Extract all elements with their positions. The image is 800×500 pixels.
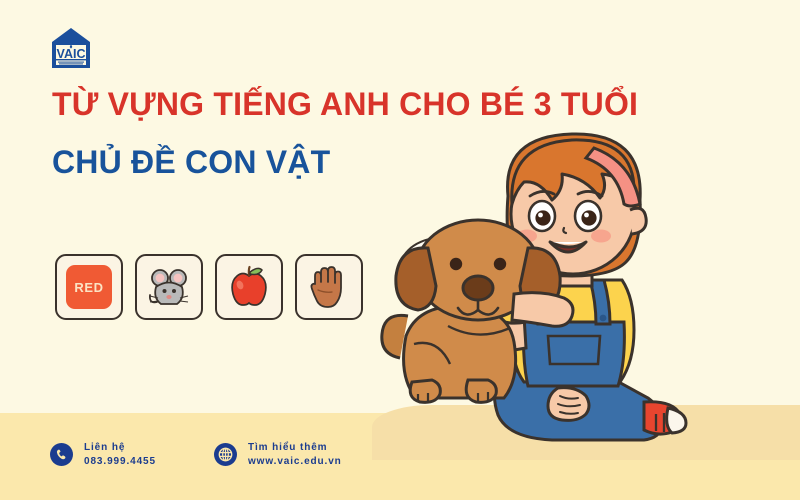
phone-icon <box>50 443 73 466</box>
footer-website-value: www.vaic.edu.vn <box>248 455 342 469</box>
vaic-logo[interactable]: VAIC <box>48 26 94 70</box>
globe-glyph <box>218 447 233 462</box>
illustration-svg <box>372 130 800 460</box>
flashcard-red[interactable]: RED <box>55 254 123 320</box>
flashcard-hand[interactable] <box>295 254 363 320</box>
footer-website[interactable]: Tìm hiểu thêm www.vaic.edu.vn <box>214 441 342 468</box>
footer-contact[interactable]: Liên hệ 083.999.4455 <box>50 441 156 468</box>
globe-icon <box>214 443 237 466</box>
flashcard-mouse[interactable] <box>135 254 203 320</box>
flashcard-apple[interactable] <box>215 254 283 320</box>
flashcard-row: RED <box>55 254 363 320</box>
poster-canvas: VAIC TỪ VỰNG TIẾNG ANH CHO BÉ 3 TUỔI CHỦ… <box>0 0 800 500</box>
flashcard-red-label: RED <box>74 280 103 295</box>
red-color-swatch-icon: RED <box>66 265 112 309</box>
vaic-logo-icon: VAIC <box>48 26 94 70</box>
footer-contact-label: Liên hệ <box>84 441 156 455</box>
footer-website-label: Tìm hiểu thêm <box>248 441 342 455</box>
mouse-icon <box>144 262 194 312</box>
hand-icon <box>306 262 352 312</box>
svg-text:VAIC: VAIC <box>57 47 86 61</box>
apple-icon <box>225 263 273 311</box>
girl-and-dog-illustration <box>372 130 800 460</box>
poster-title-line-1: TỪ VỰNG TIẾNG ANH CHO BÉ 3 TUỔI <box>52 86 638 123</box>
footer-contact-value: 083.999.4455 <box>84 455 156 469</box>
petting-hand <box>512 293 573 327</box>
phone-glyph <box>55 448 68 461</box>
footer-contact-bar: Liên hệ 083.999.4455 Tìm hiểu thêm www.v… <box>50 441 342 468</box>
poster-title-line-2: CHỦ ĐỀ CON VẬT <box>52 144 330 181</box>
